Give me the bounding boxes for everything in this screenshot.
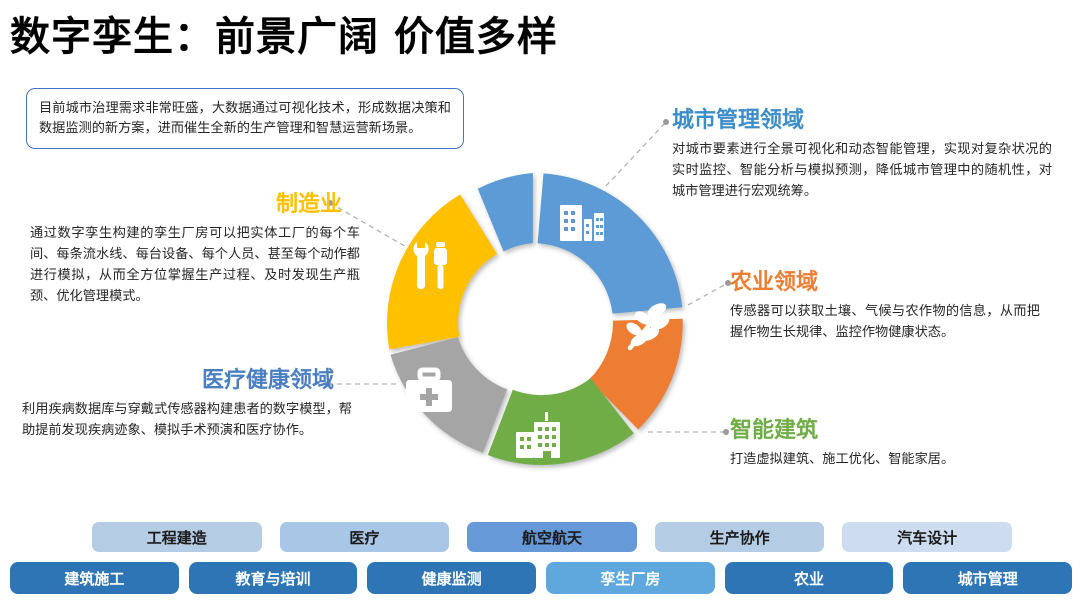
tag-tag-row-upper-2[interactable]: 航空航天 [467, 522, 637, 552]
block-agriculture-heading: 农业领域 [730, 270, 1070, 296]
connector-dot-build [723, 429, 729, 435]
tag-tag-row-lower-2[interactable]: 健康监测 [367, 562, 536, 594]
tag-tag-row-upper-4[interactable]: 汽车设计 [842, 522, 1012, 552]
tag-tag-row-lower-1[interactable]: 教育与培训 [189, 562, 358, 594]
tag-row-lower: 建筑施工教育与培训健康监测孪生厂房农业城市管理 [10, 562, 1072, 594]
donut-chart [368, 158, 698, 488]
block-city-management: 城市管理领域 对城市要素进行全景可视化和动态智能管理，实现对复杂状况的实时监控、… [672, 108, 1072, 201]
tag-tag-row-lower-5[interactable]: 城市管理 [903, 562, 1072, 594]
intro-callout-box: 目前城市治理需求非常旺盛，大数据通过可视化技术，形成数据决策和数据监测的新方案，… [26, 88, 464, 149]
tag-tag-row-lower-3[interactable]: 孪生厂房 [546, 562, 715, 594]
tag-row-upper: 工程建造医疗航空航天生产协作汽车设计 [92, 522, 1012, 552]
block-manufacturing-heading: 制造业 [30, 192, 342, 218]
tag-tag-row-upper-0[interactable]: 工程建造 [92, 522, 262, 552]
tag-tag-row-upper-3[interactable]: 生产协作 [655, 522, 825, 552]
donut-seg-city[interactable] [538, 173, 683, 313]
block-medical-health: 医疗健康领域 利用疾病数据库与穿戴式传感器构建患者的数字模型，帮助提前发现疾病迹… [22, 368, 352, 440]
block-city-management-body: 对城市要素进行全景可视化和动态智能管理，实现对复杂状况的实时监控、智能分析与模拟… [672, 138, 1052, 201]
block-agriculture-body: 传感器可以获取土壤、气候与农作物的信息，从而把握作物生长规律、监控作物健康状态。 [730, 300, 1040, 342]
tag-tag-row-lower-4[interactable]: 农业 [725, 562, 894, 594]
page-title: 数字孪生：前景广阔 价值多样 [10, 4, 558, 62]
block-smart-building: 智能建筑 打造虚拟建筑、施工优化、智能家居。 [730, 418, 1075, 469]
block-smart-building-body: 打造虚拟建筑、施工优化、智能家居。 [730, 448, 1060, 469]
block-city-management-heading: 城市管理领域 [672, 108, 1072, 134]
block-smart-building-heading: 智能建筑 [730, 418, 1075, 444]
intro-callout-text: 目前城市治理需求非常旺盛，大数据通过可视化技术，形成数据决策和数据监测的新方案，… [39, 98, 451, 138]
block-agriculture: 农业领域 传感器可以获取土壤、气候与农作物的信息，从而把握作物生长规律、监控作物… [730, 270, 1070, 342]
connector-dot-city [663, 119, 669, 125]
tag-tag-row-lower-0[interactable]: 建筑施工 [10, 562, 179, 594]
block-medical-health-heading: 医疗健康领域 [22, 368, 334, 394]
block-manufacturing-body: 通过数字孪生构建的孪生厂房可以把实体工厂的每个车间、每条流水线、每台设备、每个人… [30, 222, 360, 306]
tag-tag-row-upper-1[interactable]: 医疗 [280, 522, 450, 552]
block-medical-health-body: 利用疾病数据库与穿戴式传感器构建患者的数字模型，帮助提前发现疾病迹象、模拟手术预… [22, 398, 352, 440]
block-manufacturing: 制造业 通过数字孪生构建的孪生厂房可以把实体工厂的每个车间、每条流水线、每台设备… [30, 192, 360, 306]
infographic-canvas: 数字孪生：前景广阔 价值多样 目前城市治理需求非常旺盛，大数据通过可视化技术，形… [0, 0, 1080, 608]
